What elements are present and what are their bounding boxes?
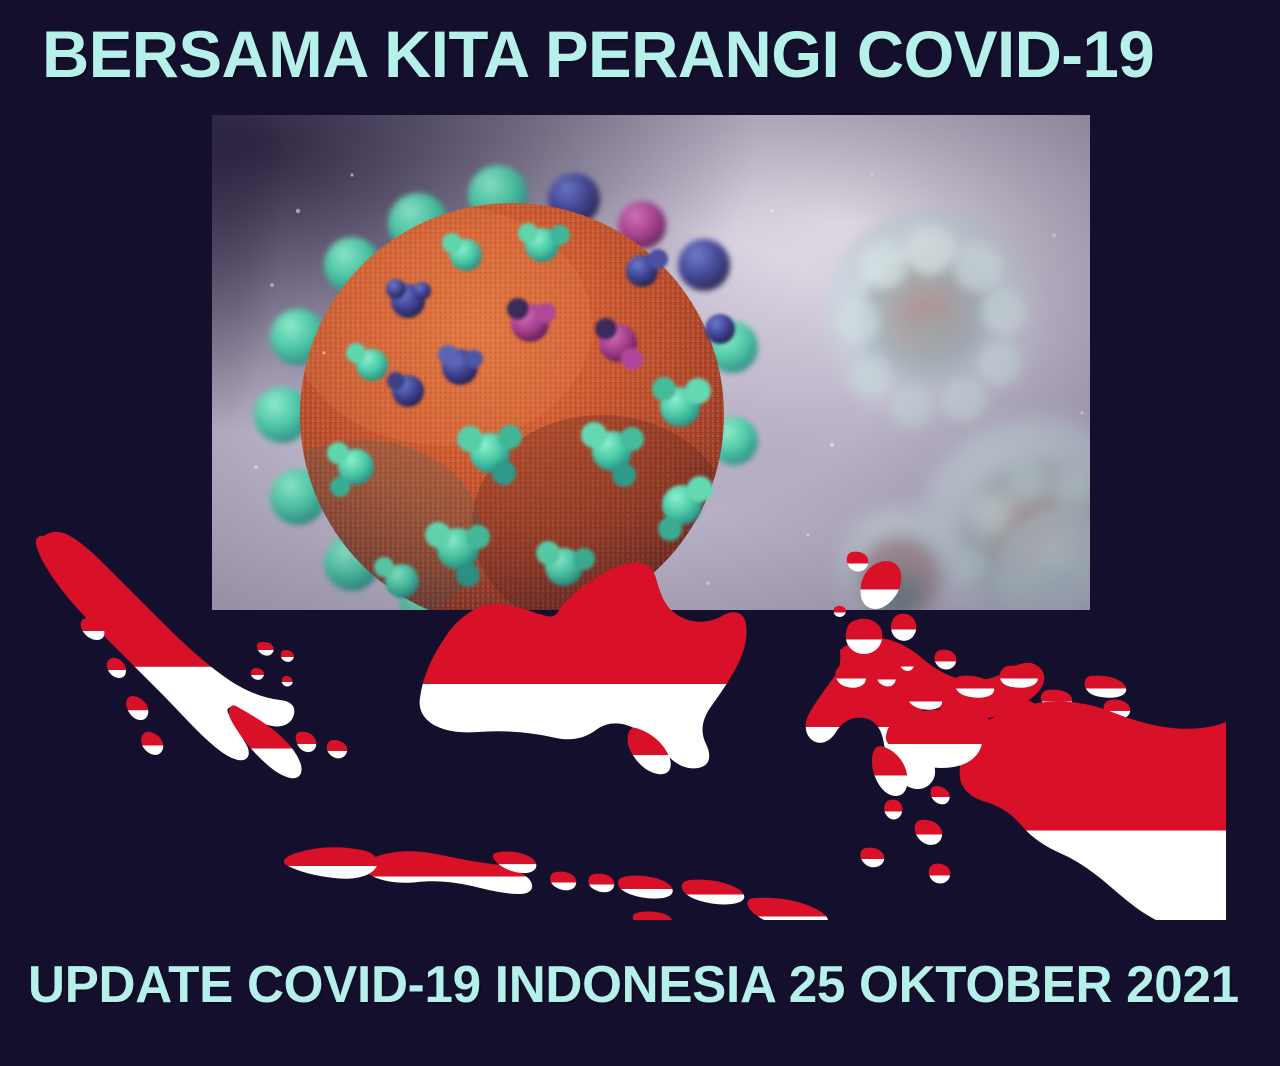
covid-update-poster: BERSAMA KITA PERANGI COVID-19 UPDATE COV… bbox=[0, 0, 1280, 1066]
indonesia-flag-map bbox=[0, 500, 1280, 920]
indonesia-map-svg bbox=[0, 500, 1280, 920]
indonesia-landmass bbox=[36, 532, 1226, 920]
update-caption: UPDATE COVID-19 INDONESIA 25 OKTOBER 202… bbox=[28, 956, 1239, 1014]
page-title: BERSAMA KITA PERANGI COVID-19 bbox=[42, 18, 1154, 90]
